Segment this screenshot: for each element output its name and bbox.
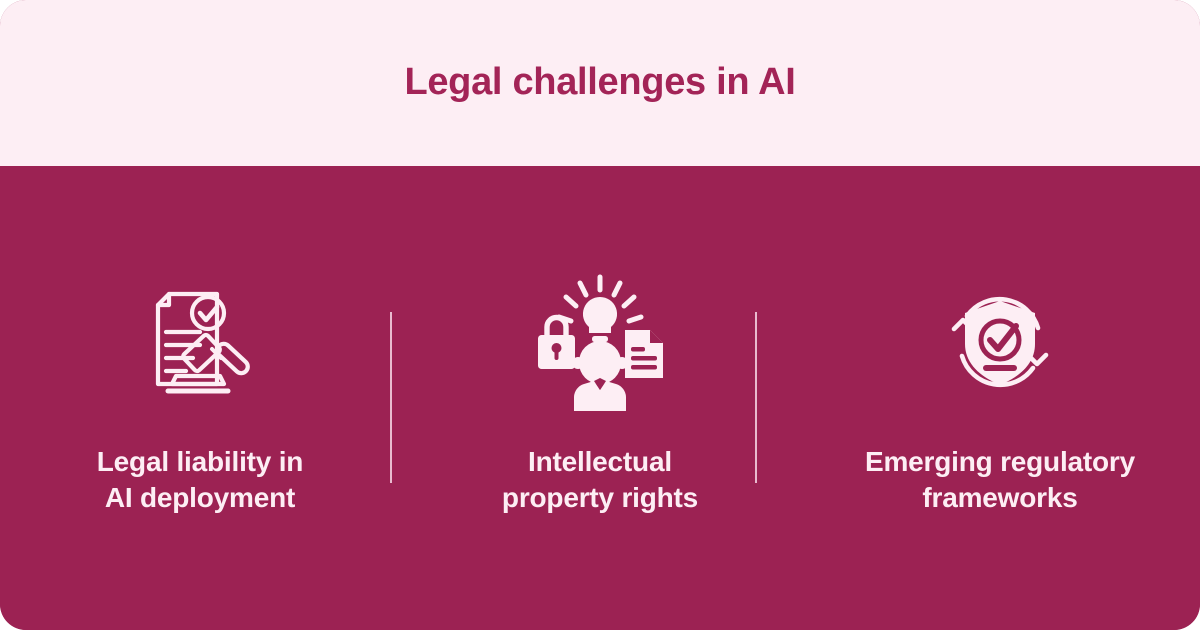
header-band: Legal challenges in AI [0, 0, 1200, 166]
icon-slot-legal-liability [138, 262, 262, 422]
label-line-2: frameworks [922, 482, 1077, 513]
column-legal-liability: Legal liability in AI deployment [0, 166, 400, 630]
label-line-2: AI deployment [105, 482, 295, 513]
column-divider-2 [755, 312, 757, 483]
icon-slot-intellectual-property [530, 262, 670, 422]
page-title: Legal challenges in AI [404, 62, 795, 104]
label-line-1: Legal liability in [97, 446, 303, 477]
document-gavel-check-icon [138, 280, 262, 404]
main-panel: Legal liability in AI deployment [0, 166, 1200, 630]
shield-check-refresh-icon [938, 280, 1062, 404]
column-label-regulatory-frameworks: Emerging regulatory frameworks [865, 444, 1135, 515]
column-regulatory-frameworks: Emerging regulatory frameworks [800, 166, 1200, 630]
column-divider-1 [390, 312, 392, 483]
label-line-1: Intellectual [528, 446, 672, 477]
icon-slot-regulatory-frameworks [938, 262, 1062, 422]
infographic-card: Legal challenges in AI [0, 0, 1200, 630]
column-intellectual-property: Intellectual property rights [400, 166, 800, 630]
column-label-legal-liability: Legal liability in AI deployment [97, 444, 303, 515]
person-lightbulb-lock-document-icon [530, 273, 670, 411]
column-label-intellectual-property: Intellectual property rights [502, 444, 698, 515]
label-line-1: Emerging regulatory [865, 446, 1135, 477]
label-line-2: property rights [502, 482, 698, 513]
